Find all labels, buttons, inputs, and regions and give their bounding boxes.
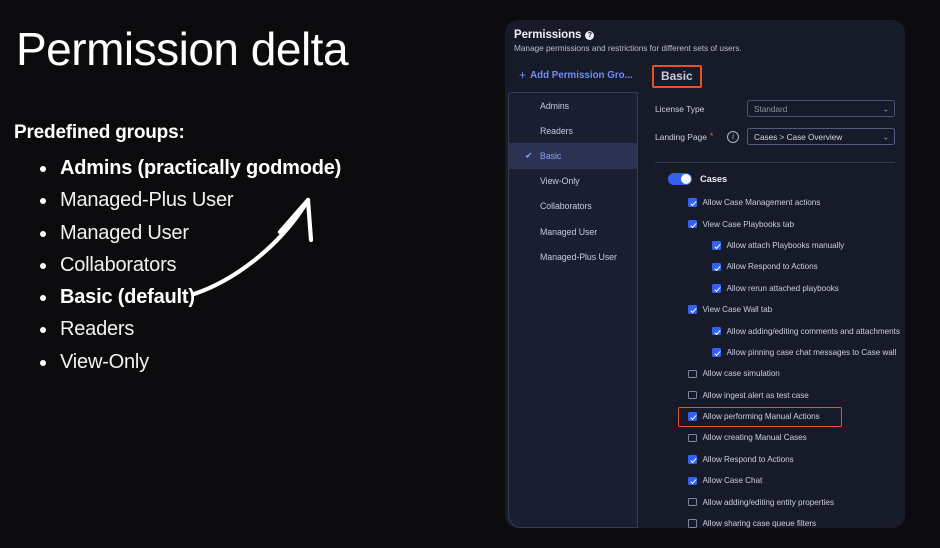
checkbox-checked-icon[interactable]	[688, 477, 697, 486]
cases-toggle[interactable]	[668, 173, 692, 186]
checkbox-checked-icon[interactable]	[712, 327, 721, 336]
permission-row[interactable]: Allow Case Management actions	[668, 192, 903, 213]
permission-label: Allow Case Management actions	[703, 198, 821, 207]
sidebar-item-basic[interactable]: ✔Basic	[509, 143, 637, 168]
chevron-down-icon: ⌄	[882, 104, 889, 113]
landing-page-row: Landing Page * i Cases > Case Overview ⌄	[655, 124, 895, 149]
permission-label: Allow rerun attached playbooks	[727, 284, 839, 293]
check-icon: ✔	[525, 150, 533, 161]
panel-subtitle: Manage permissions and restrictions for …	[514, 43, 905, 53]
permission-label: Allow ingest alert as test case	[703, 391, 809, 400]
checkbox-checked-icon[interactable]	[688, 412, 697, 421]
sidebar-item-admins[interactable]: Admins	[509, 93, 637, 118]
chevron-down-icon: ⌄	[882, 132, 889, 141]
license-type-value: Standard	[754, 104, 787, 114]
checkbox-checked-icon[interactable]	[712, 284, 721, 293]
permission-row[interactable]: Allow ingest alert as test case	[668, 385, 903, 406]
curved-arrow-icon	[190, 178, 350, 298]
checkbox-checked-icon[interactable]	[712, 263, 721, 272]
checkbox-checked-icon[interactable]	[712, 241, 721, 250]
checkbox-checked-icon[interactable]	[712, 348, 721, 357]
permission-row[interactable]: Allow Respond to Actions	[668, 449, 903, 470]
sidebar-item-view-only[interactable]: View-Only	[509, 169, 637, 194]
landing-page-select[interactable]: Cases > Case Overview ⌄	[747, 128, 895, 145]
checkbox-checked-icon[interactable]	[688, 220, 697, 229]
permissions-tree: Cases Allow Case Management actionsView …	[668, 170, 903, 534]
permission-label: Allow Case Chat	[703, 476, 763, 485]
list-item: View-Only	[36, 346, 456, 378]
cases-section-toggle-row: Cases	[668, 170, 903, 188]
permission-label: Allow Respond to Actions	[703, 455, 794, 464]
help-icon[interactable]: ?	[585, 31, 594, 40]
add-permission-group-label: Add Permission Gro...	[530, 70, 633, 81]
sidebar-item-label: Managed User	[540, 227, 597, 237]
permission-row[interactable]: View Case Wall tab	[668, 299, 903, 320]
permission-row[interactable]: Allow Case Chat	[668, 470, 903, 491]
checkbox-checked-icon[interactable]	[688, 455, 697, 464]
sidebar-item-label: Readers	[540, 126, 573, 136]
permission-label: View Case Playbooks tab	[703, 220, 795, 229]
permission-row[interactable]: Allow Respond to Actions	[668, 256, 903, 277]
list-item: Readers	[36, 313, 456, 345]
landing-page-label-text: Landing Page	[655, 132, 707, 142]
page-title: Permission delta	[16, 20, 348, 78]
permission-row[interactable]: Allow adding/editing entity properties	[668, 491, 903, 512]
group-settings-form: License Type Standard ⌄ Landing Page * i…	[655, 96, 895, 152]
checkbox-unchecked-icon[interactable]	[688, 434, 697, 443]
cases-toggle-label: Cases	[700, 174, 727, 184]
permission-row[interactable]: Allow case simulation	[668, 363, 903, 384]
permission-label: Allow case simulation	[703, 369, 780, 378]
section-divider	[655, 162, 895, 163]
permission-row[interactable]: Allow adding/editing comments and attach…	[668, 320, 903, 341]
permission-row[interactable]: Allow performing Manual Actions	[668, 406, 903, 427]
permission-row[interactable]: Allow sharing case queue filters	[668, 513, 903, 534]
slide-canvas: Permission delta Predefined groups: Admi…	[0, 0, 940, 548]
selected-group-chip: Basic	[652, 65, 702, 88]
checkbox-unchecked-icon[interactable]	[688, 370, 697, 379]
permission-row[interactable]: Allow attach Playbooks manually	[668, 235, 903, 256]
permission-row[interactable]: Allow pinning case chat messages to Case…	[668, 342, 903, 363]
sidebar-item-readers[interactable]: Readers	[509, 118, 637, 143]
checkbox-checked-icon[interactable]	[688, 198, 697, 207]
permission-row[interactable]: Allow rerun attached playbooks	[668, 278, 903, 299]
panel-header: Permissions ? Manage permissions and res…	[505, 20, 905, 53]
checkbox-checked-icon[interactable]	[688, 305, 697, 314]
info-icon[interactable]: i	[727, 131, 739, 143]
sidebar-item-label: Basic	[540, 151, 561, 161]
groups-heading: Predefined groups:	[14, 122, 185, 144]
required-asterisk: *	[710, 132, 713, 141]
license-type-row: License Type Standard ⌄	[655, 96, 895, 121]
add-permission-group-button[interactable]: + Add Permission Gro...	[519, 69, 633, 81]
permission-label: Allow attach Playbooks manually	[727, 241, 845, 250]
license-type-select[interactable]: Standard ⌄	[747, 100, 895, 117]
checkbox-unchecked-icon[interactable]	[688, 498, 697, 507]
checkbox-unchecked-icon[interactable]	[688, 519, 697, 528]
permission-row[interactable]: Allow creating Manual Cases	[668, 427, 903, 448]
sidebar-item-managed-plus-user[interactable]: Managed-Plus User	[509, 244, 637, 269]
permission-label: Allow Respond to Actions	[727, 262, 818, 271]
toggle-knob	[681, 174, 691, 184]
license-type-label: License Type	[655, 104, 727, 114]
landing-page-value: Cases > Case Overview	[754, 132, 842, 142]
permission-label: View Case Wall tab	[703, 305, 773, 314]
permission-label: Allow creating Manual Cases	[703, 433, 807, 442]
permission-label: Allow pinning case chat messages to Case…	[727, 348, 897, 357]
permission-group-sidebar: AdminsReaders✔BasicView-OnlyCollaborator…	[508, 92, 638, 528]
landing-page-label: Landing Page *	[655, 132, 727, 142]
checkbox-unchecked-icon[interactable]	[688, 391, 697, 400]
sidebar-item-label: Managed-Plus User	[540, 252, 617, 262]
permission-checkbox-list: Allow Case Management actionsView Case P…	[668, 192, 903, 534]
sidebar-item-label: Admins	[540, 101, 569, 111]
plus-icon: +	[519, 69, 526, 81]
permission-label: Allow performing Manual Actions	[703, 412, 820, 421]
sidebar-item-label: View-Only	[540, 176, 579, 186]
panel-title-text: Permissions	[514, 29, 581, 41]
add-permission-group-row: + Add Permission Gro...	[505, 69, 905, 81]
sidebar-item-label: Collaborators	[540, 201, 592, 211]
permission-label: Allow adding/editing comments and attach…	[727, 327, 900, 336]
sidebar-item-managed-user[interactable]: Managed User	[509, 219, 637, 244]
permission-label: Allow sharing case queue filters	[703, 519, 817, 528]
permission-label: Allow adding/editing entity properties	[703, 498, 834, 507]
permission-row[interactable]: View Case Playbooks tab	[668, 213, 903, 234]
panel-title-row: Permissions ?	[514, 29, 905, 41]
sidebar-item-collaborators[interactable]: Collaborators	[509, 194, 637, 219]
